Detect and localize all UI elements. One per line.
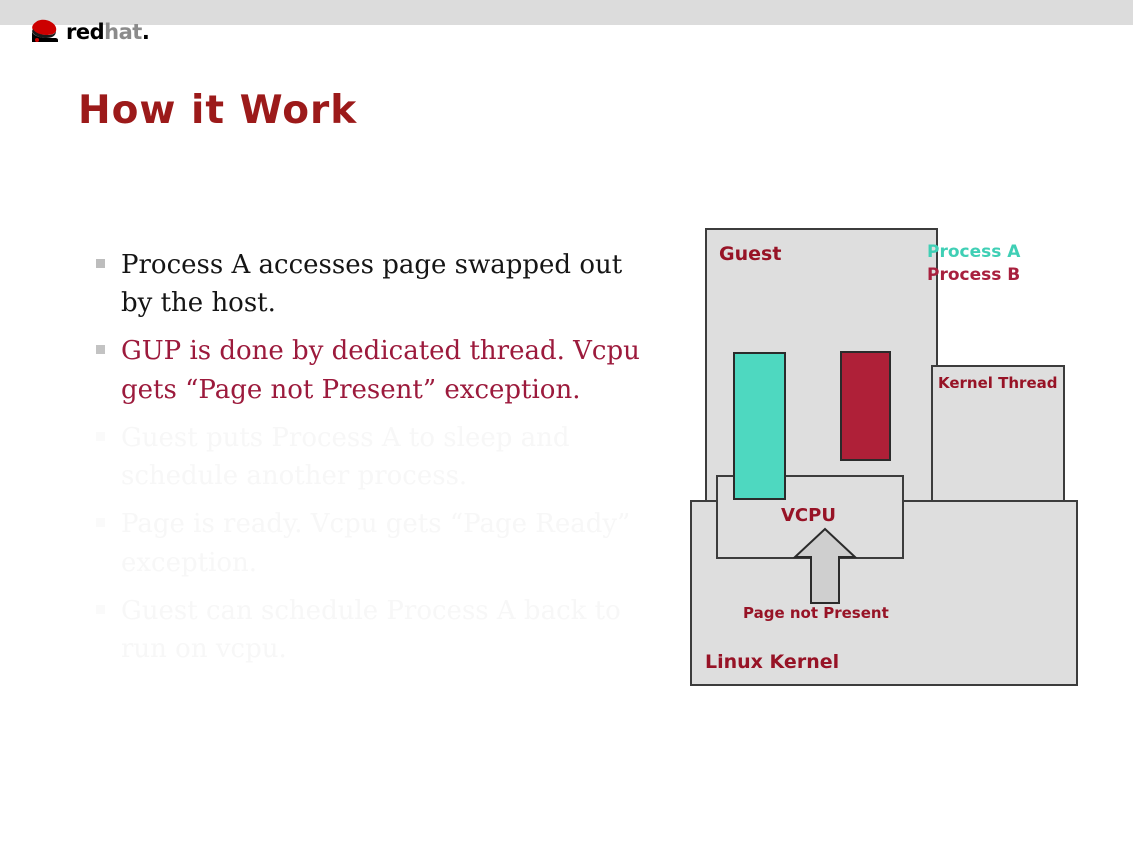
square-bullet-icon (96, 605, 105, 614)
list-item-label: Guest puts Process A to sleep and schedu… (121, 419, 656, 495)
wordmark-dot: . (142, 20, 149, 44)
list-item: Page is ready. Vcpu gets “Page Ready” ex… (96, 505, 656, 581)
list-item-label: Process A accesses page swapped out by t… (121, 246, 656, 322)
list-item-label: GUP is done by dedicated thread. Vcpu ge… (121, 332, 656, 408)
list-item-label: Guest can schedule Process A back to run… (121, 592, 656, 668)
list-item: Guest puts Process A to sleep and schedu… (96, 419, 656, 495)
up-arrow-icon (793, 527, 857, 605)
square-bullet-icon (96, 518, 105, 527)
redhat-shadowman-icon (28, 19, 62, 45)
list-item: Process A accesses page swapped out by t… (96, 246, 656, 322)
list-item: GUP is done by dedicated thread. Vcpu ge… (96, 332, 656, 408)
legend-process-b: Process B (927, 264, 1020, 287)
square-bullet-icon (96, 345, 105, 354)
legend-process-a: Process A (927, 241, 1020, 264)
process-a-bar (733, 352, 786, 500)
bullet-list: Process A accesses page swapped out by t… (96, 246, 656, 678)
guest-label: Guest (719, 243, 781, 265)
redhat-logo: redhat. (28, 16, 149, 48)
redhat-wordmark: redhat. (66, 22, 149, 43)
square-bullet-icon (96, 259, 105, 268)
wordmark-hat: hat (104, 20, 142, 44)
process-b-bar (840, 351, 891, 461)
kernel-thread-label: Kernel Thread (938, 374, 1058, 392)
architecture-diagram: Guest VCPU Kernel Thread GUP Linux Kerne… (686, 224, 1086, 694)
vcpu-label: VCPU (781, 505, 836, 526)
page-not-present-label: Page not Present (743, 604, 889, 622)
wordmark-red: red (66, 20, 104, 44)
linux-kernel-label: Linux Kernel (705, 651, 839, 673)
square-bullet-icon (96, 432, 105, 441)
top-banner-bar (0, 0, 1133, 25)
page-title: How it Work (78, 88, 357, 133)
process-legend: Process A Process B (927, 241, 1020, 287)
list-item-label: Page is ready. Vcpu gets “Page Ready” ex… (121, 505, 656, 581)
list-item: Guest can schedule Process A back to run… (96, 592, 656, 668)
